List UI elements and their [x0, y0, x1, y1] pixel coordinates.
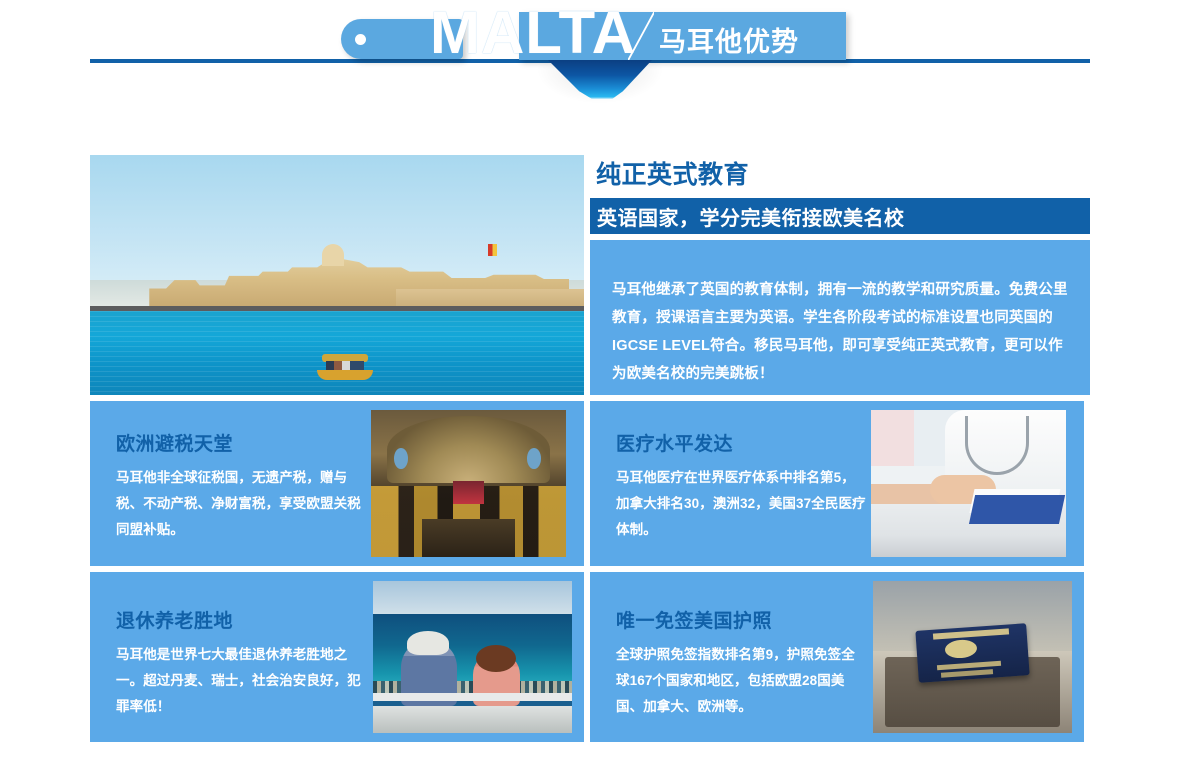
hero-boat — [317, 354, 373, 380]
feature-row-3: 退休养老胜地 马耳他是世界七大最佳退休养老胜地之一。超过丹麦、瑞士，社会治安良好… — [90, 572, 1090, 742]
hero-dome — [322, 244, 344, 266]
card-title: 医疗水平发达 — [616, 429, 880, 456]
desk-clipboard — [969, 495, 1065, 524]
education-panel: 纯正英式教育 英语国家，学分完美衔接欧美名校 马耳他继承了英国的教育体制，拥有一… — [590, 155, 1090, 395]
card-photo-cathedral — [371, 410, 566, 557]
education-body-text: 马耳他继承了英国的教育体制，拥有一流的教学和研究质量。免费公里教育，授课语言主要… — [590, 240, 1090, 388]
hero-sea — [90, 311, 584, 395]
feature-card-passport[interactable]: 唯一免签美国护照 全球护照免签指数排名第9，护照免签全球167个国家和地区，包括… — [590, 572, 1084, 742]
education-body-panel: 马耳他继承了英国的教育体制，拥有一流的教学和研究质量。免费公里教育，授课语言主要… — [590, 240, 1090, 395]
card-text-block: 退休养老胜地 马耳他是世界七大最佳退休养老胜地之一。超过丹麦、瑞士，社会治安良好… — [90, 572, 380, 742]
card-description: 马耳他医疗在世界医疗体系中排名第5，加拿大排名30，澳洲32，美国37全民医疗体… — [616, 465, 866, 543]
card-photo-doctor — [871, 410, 1066, 557]
hero-flag-icon — [488, 244, 497, 256]
card-description: 全球护照免签指数排名第9，护照免签全球167个国家和地区，包括欧盟28国美国、加… — [616, 642, 866, 720]
education-subtitle: 英语国家，学分完美衔接欧美名校 — [590, 202, 905, 231]
education-subtitle-bar: 英语国家，学分完美衔接欧美名校 — [590, 198, 1090, 234]
card-description: 马耳他非全球征税国，无遗产税，赠与税、不动产税、净财富税，享受欧盟关税同盟补贴。 — [116, 465, 366, 543]
card-text-block: 欧洲避税天堂 马耳他非全球征税国，无遗产税，赠与税、不动产税、净财富税，享受欧盟… — [90, 401, 380, 566]
content-wrapper: 纯正英式教育 英语国家，学分完美衔接欧美名校 马耳他继承了英国的教育体制，拥有一… — [90, 155, 1090, 748]
bench-man-cap — [407, 631, 449, 655]
bench-seat — [373, 706, 572, 733]
header-brand-cn: 马耳他优势 — [659, 20, 799, 59]
hero-boat-hull — [317, 370, 373, 380]
card-title: 退休养老胜地 — [116, 606, 380, 633]
cathedral-floor — [422, 519, 516, 557]
feature-row-1: 纯正英式教育 英语国家，学分完美衔接欧美名校 马耳他继承了英国的教育体制，拥有一… — [90, 155, 1090, 395]
bench-sky — [373, 581, 572, 614]
header-brand-en: MALTA — [430, 2, 636, 64]
cathedral-altar — [453, 481, 484, 505]
feature-row-2: 欧洲避税天堂 马耳他非全球征税国，无遗产税，赠与税、不动产税、净财富税，享受欧盟… — [90, 401, 1090, 566]
card-photo-seaside-bench — [373, 581, 572, 733]
card-title: 欧洲避税天堂 — [116, 429, 380, 456]
card-text-block: 唯一免签美国护照 全球护照免签指数排名第9，护照免签全球167个国家和地区，包括… — [590, 572, 880, 742]
page-header: 马耳他优势 MALTA — [0, 0, 1180, 110]
header-tag-dot-icon — [355, 34, 366, 45]
card-title: 唯一免签美国护照 — [616, 606, 880, 633]
card-photo-passport — [873, 581, 1072, 733]
feature-card-retirement[interactable]: 退休养老胜地 马耳他是世界七大最佳退休养老胜地之一。超过丹麦、瑞士，社会治安良好… — [90, 572, 584, 742]
education-title: 纯正英式教育 — [596, 155, 749, 191]
cathedral-window-right — [527, 448, 541, 469]
bench-railing — [373, 693, 572, 701]
feature-card-healthcare[interactable]: 医疗水平发达 马耳他医疗在世界医疗体系中排名第5，加拿大排名30，澳洲32，美国… — [590, 401, 1084, 566]
card-description: 马耳他是世界七大最佳退休养老胜地之一。超过丹麦、瑞士，社会治安良好，犯罪率低！ — [116, 642, 366, 720]
hero-photo-valletta — [90, 155, 584, 395]
cathedral-window-left — [394, 448, 408, 469]
card-text-block: 医疗水平发达 马耳他医疗在世界医疗体系中排名第5，加拿大排名30，澳洲32，美国… — [590, 401, 880, 566]
feature-card-tax-haven[interactable]: 欧洲避税天堂 马耳他非全球征税国，无遗产税，赠与税、不动产税、净财富税，享受欧盟… — [90, 401, 584, 566]
